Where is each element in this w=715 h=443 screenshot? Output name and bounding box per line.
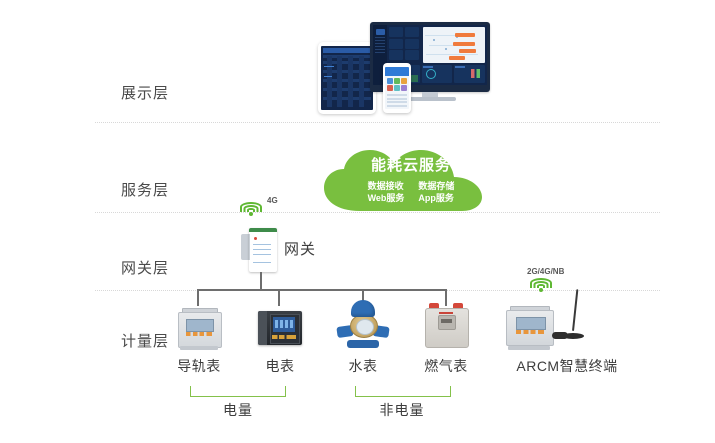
meter-label-electric: 电表 (244, 356, 316, 376)
gateway-label: 网关 (284, 238, 316, 259)
layer-label-metering: 计量层 (105, 330, 185, 351)
list-item (387, 105, 407, 107)
app-icon (394, 85, 400, 91)
energy-cloud-architecture-diagram: 展示层 服务层 网关层 计量层 (0, 0, 715, 443)
meter-lcd (273, 317, 295, 332)
dashboard-top-row (389, 27, 485, 63)
stat-card (389, 27, 403, 37)
monitor-stand-base (404, 97, 456, 101)
gateway-print-line (253, 249, 271, 250)
app-icon (401, 85, 407, 91)
tablet-column (359, 56, 364, 107)
tablet-column (327, 56, 332, 107)
map-callout (453, 42, 475, 46)
meter-buttons (272, 335, 296, 339)
lcd-digit (280, 320, 283, 328)
sidebar-item (375, 46, 385, 48)
tablet-header-bar (323, 48, 371, 53)
terminal-label-arcm: ARCM智慧终端 (507, 356, 627, 376)
bracket-label-non-electricity: 非电量 (362, 400, 442, 420)
map-marker (445, 48, 447, 50)
antenna-icon (552, 289, 594, 347)
sidebar-item (375, 40, 385, 42)
stat-card (389, 39, 403, 49)
cloud-feature: 数据存储 (418, 180, 454, 192)
connector-drop-electric (278, 289, 280, 306)
app-icon (401, 78, 407, 84)
stat-card (405, 27, 419, 37)
stat-card (389, 50, 403, 60)
widget-title (423, 66, 433, 68)
cloud-feature: App服务 (418, 192, 454, 204)
bracket-electricity (190, 386, 286, 397)
meter-label-din-rail: 导轨表 (163, 356, 235, 376)
map-marker (433, 39, 435, 41)
gateway-led (254, 237, 257, 240)
water-meter-dial (350, 314, 378, 338)
gateway-network-label: 4G (267, 196, 278, 205)
meter-foot (180, 346, 218, 350)
electric-meter-icon (256, 309, 304, 349)
gauge-icon (426, 69, 436, 79)
water-meter-icon (337, 300, 389, 350)
meter-buttons (186, 332, 212, 336)
map-road (426, 54, 478, 55)
sidebar-item (375, 43, 385, 45)
terminal-foot (508, 346, 550, 350)
map-callout (455, 33, 475, 37)
terminal-network-label: 2G/4G/NB (527, 267, 564, 276)
lcd-digit (275, 320, 278, 328)
smartphone-device (383, 63, 411, 113)
lcd-digit (290, 320, 293, 328)
wifi-dot (249, 212, 253, 216)
sidebar-item (375, 37, 385, 39)
app-icon (387, 85, 393, 91)
arcm-terminal-icon (503, 306, 555, 350)
widget-gauge (422, 65, 453, 83)
gateway-device-icon (241, 228, 281, 272)
cloud-feature-columns: 数据接收 Web服务 数据存储 App服务 (368, 180, 455, 204)
tablet-column (348, 56, 353, 107)
water-meter-lid (351, 300, 375, 317)
sidebar-item (375, 49, 385, 51)
widget-bars (454, 65, 485, 83)
widget-bar-chart (471, 69, 483, 78)
meter-lcd (186, 319, 214, 332)
layer-label-gateway: 网关层 (105, 257, 185, 278)
dashboard-stat-cards (389, 27, 421, 63)
connector-drop-din-rail (197, 289, 199, 306)
tablet-column (337, 56, 342, 107)
gas-meter-digits (441, 319, 452, 323)
cloud-text-block: 能耗云服务 数据接收 Web服务 数据存储 App服务 (316, 147, 506, 213)
dashboard-map-panel (423, 27, 485, 63)
cloud-features-left: 数据接收 Web服务 (368, 180, 405, 204)
map-callout (449, 56, 465, 60)
tablet-chart-line (324, 66, 334, 67)
cloud-features-right: 数据存储 App服务 (418, 180, 454, 204)
list-item (387, 101, 407, 103)
wifi-icon (240, 200, 262, 216)
gateway-body (249, 228, 277, 272)
lcd-digit (285, 320, 288, 328)
gas-meter-strip (439, 312, 453, 314)
antenna-cable (552, 332, 568, 339)
energy-cloud-service: 能耗云服务 数据接收 Web服务 数据存储 App服务 (316, 147, 506, 213)
map-callout (459, 49, 476, 53)
wifi-dot (539, 288, 543, 292)
gateway-print-line (253, 244, 271, 245)
tablet-chart-line (324, 76, 332, 77)
layer-label-display: 展示层 (105, 82, 185, 103)
connector-bus-horizontal (197, 289, 446, 291)
terminal-lcd (516, 317, 546, 330)
list-item (387, 98, 407, 100)
phone-screen (385, 67, 409, 109)
tablet-device (318, 42, 376, 114)
separator-display-service (95, 122, 660, 123)
app-icon (387, 78, 393, 84)
phone-list (385, 93, 409, 109)
wifi-icon (530, 276, 552, 292)
cloud-feature: Web服务 (368, 192, 405, 204)
stat-card (405, 50, 419, 60)
gateway-print-line (253, 254, 271, 255)
bracket-label-electricity: 电量 (198, 400, 278, 420)
phone-icon-grid (385, 76, 409, 93)
bracket-non-electricity (355, 386, 451, 397)
gas-meter-window (438, 315, 456, 330)
cloud-feature: 数据接收 (368, 180, 405, 192)
cloud-title: 能耗云服务 (371, 154, 451, 175)
tablet-screen (321, 46, 373, 110)
sidebar-item (375, 52, 385, 54)
list-item (387, 94, 407, 96)
widget-title (455, 66, 465, 68)
water-meter-base (347, 340, 379, 348)
sidebar-logo-icon (376, 29, 385, 35)
terminal-buttons (516, 330, 544, 334)
connector-gateway-vertical (260, 272, 262, 290)
gas-meter-icon (421, 303, 471, 349)
meter-label-gas: 燃气表 (410, 356, 482, 376)
phone-app-header (385, 67, 409, 76)
layer-label-service: 服务层 (105, 179, 185, 200)
meter-label-water: 水表 (327, 356, 399, 376)
gateway-terminal-block (249, 228, 277, 232)
stat-card (405, 39, 419, 49)
din-rail-meter-icon (175, 308, 223, 350)
meter-side-edge (258, 311, 267, 345)
app-icon (394, 78, 400, 84)
water-meter-register (356, 319, 374, 335)
antenna-rod (572, 289, 578, 331)
gateway-print-line (253, 262, 271, 263)
